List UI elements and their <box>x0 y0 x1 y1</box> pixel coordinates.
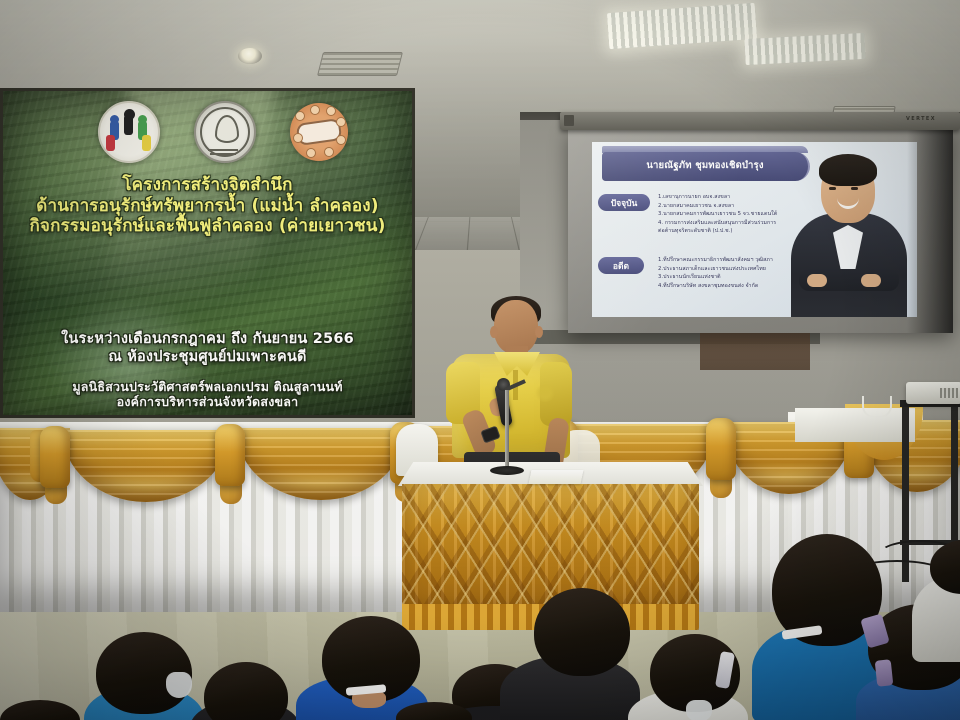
purple-scrunchie <box>875 659 894 687</box>
ceiling-air-vent <box>317 52 403 76</box>
foundation-seal-logo <box>194 101 256 163</box>
document-on-table <box>529 470 584 484</box>
video-projector <box>906 382 960 404</box>
banner-schedule: ในระหว่างเดือนกรกฎาคม ถึง กันยายน 2566 ณ… <box>3 331 412 366</box>
banner-title-line-1: โครงการสร้างจิตสำนึก <box>3 175 412 196</box>
speaker-ear <box>535 326 543 338</box>
slide-speaker-name: นายณัฐภัท ชุมทองเชิดบำรุง <box>604 158 806 173</box>
banner-title-line-3: กิจกรรมอนุรักษ์และฟื้นฟูลำคลอง (ค่ายเยาว… <box>3 216 412 237</box>
portrait-eye <box>829 187 836 190</box>
banner-organizers: มูลนิธิสวนประวัติศาสตร์พลเอกเปรม ติณสูลา… <box>3 379 412 410</box>
banner-title-line-2: ด้านการอนุรักษ์ทรัพยากรน้ำ (แม่น้ำ ลำคลอ… <box>3 196 412 217</box>
audience-head <box>534 588 630 676</box>
speaker-shirt-emblem <box>534 384 556 402</box>
side-table-top <box>795 408 915 442</box>
portrait-hair <box>819 154 877 186</box>
face-mask <box>166 672 192 698</box>
speaker-ear <box>490 326 498 338</box>
swag-knot <box>706 418 736 480</box>
screen-shadow-edge <box>907 128 953 333</box>
mic-stand-pole <box>505 390 509 472</box>
portrait-hand <box>807 274 827 287</box>
slide-section-pill-present: ปัจจุบัน <box>598 194 650 211</box>
projection-screen: นายณัฐภัท ชุมทองเชิดบำรุง ปัจจุบัน 1.เลข… <box>568 128 953 333</box>
ceiling-downlight <box>238 48 262 64</box>
projector-vent <box>940 388 958 398</box>
banner-organizer-line-2: องค์การบริหารส่วนจังหวัดสงขลา <box>3 394 412 409</box>
rear-door <box>700 330 810 370</box>
screen-end-cap <box>564 115 574 126</box>
event-backdrop-banner: โครงการสร้างจิตสำนึก ด้านการอนุรักษ์ทรัพ… <box>0 88 415 418</box>
banner-organizer-line-1: มูลนิธิสวนประวัติศาสตร์พลเอกเปรม ติณสูลา… <box>3 379 412 394</box>
face-mask <box>686 700 712 720</box>
screen-brand-label: VERTEX <box>906 116 936 122</box>
portrait-eye <box>851 187 858 190</box>
projection-screen-housing: VERTEX <box>560 112 960 130</box>
banner-schedule-line-1: ในระหว่างเดือนกรกฎาคม ถึง กันยายน 2566 <box>3 331 412 349</box>
presentation-slide: นายณัฐภัท ชุมทองเชิดบำรุง ปัจจุบัน 1.เลข… <box>592 142 917 317</box>
mic-stand-base <box>490 466 524 475</box>
banner-schedule-line-2: ณ ห้องประชุมศูนย์บ่มเพาะคนดี <box>3 349 412 367</box>
white-hanger <box>862 396 892 418</box>
slide-portrait <box>785 149 911 317</box>
banner-title: โครงการสร้างจิตสำนึก ด้านการอนุรักษ์ทรัพ… <box>3 175 412 237</box>
swag-knot <box>215 424 245 486</box>
people-circle-logo <box>98 101 160 163</box>
handshake-circle-logo <box>290 103 348 161</box>
portrait-hand <box>861 274 881 287</box>
slide-section-pill-past: อดีต <box>598 257 644 274</box>
swag-knot <box>40 426 70 488</box>
banner-logo-row <box>98 101 348 163</box>
photo-canvas: โครงการสร้างจิตสำนึก ด้านการอนุรักษ์ทรัพ… <box>0 0 960 720</box>
